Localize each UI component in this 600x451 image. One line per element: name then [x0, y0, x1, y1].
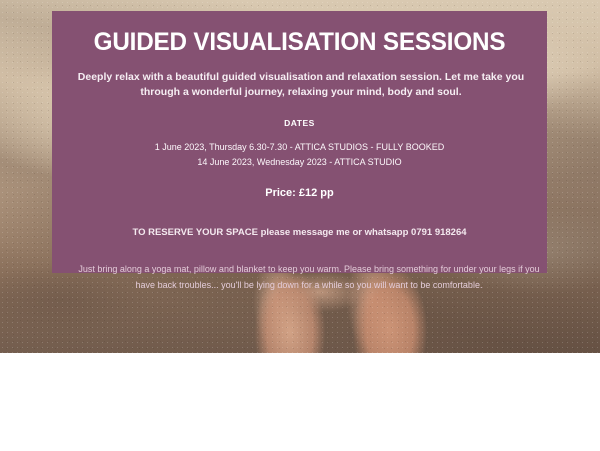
date-item: 1 June 2023, Thursday 6.30-7.30 - ATTICA…	[70, 140, 529, 155]
page-title: GUIDED VISUALISATION SESSIONS	[77, 28, 522, 56]
what-to-bring-text: Just bring along a yoga mat, pillow and …	[70, 261, 548, 293]
price-text: Price: £12 pp	[70, 187, 529, 200]
hero-section: GUIDED VISUALISATION SESSIONS Deeply rel…	[0, 0, 600, 353]
promo-overlay-card: GUIDED VISUALISATION SESSIONS Deeply rel…	[52, 11, 547, 273]
date-item: 14 June 2023, Wednesday 2023 - ATTICA ST…	[70, 155, 529, 170]
reservation-contact-text: TO RESERVE YOUR SPACE please message me …	[70, 227, 529, 239]
dates-list: 1 June 2023, Thursday 6.30-7.30 - ATTICA…	[70, 140, 529, 170]
promo-subtitle: Deeply relax with a beautiful guided vis…	[70, 70, 532, 100]
dates-label: DATES	[70, 118, 529, 128]
page-body-whitespace	[0, 353, 600, 451]
